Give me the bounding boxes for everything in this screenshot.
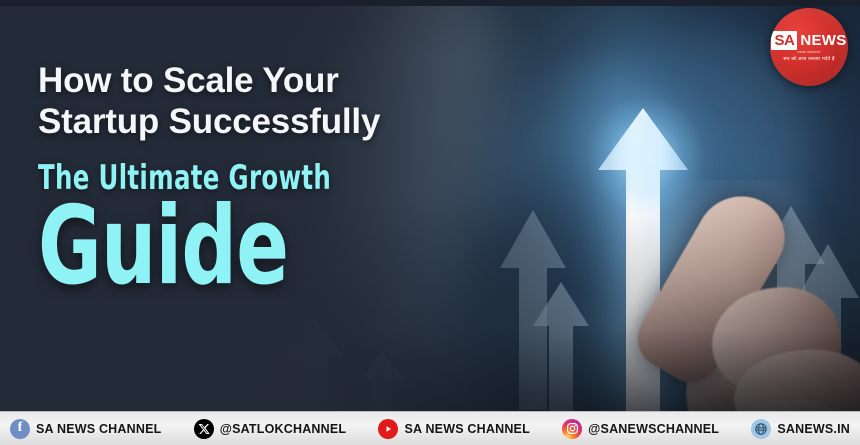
banner-image: How to Scale Your Startup Successfully T…	[0, 0, 860, 445]
footer-item-youtube[interactable]: SA NEWS CHANNEL	[378, 419, 529, 439]
footer-item-facebook[interactable]: f SA NEWS CHANNEL	[10, 419, 161, 439]
social-footer-bar: f SA NEWS CHANNEL @SATLOKCHANNEL SA NEWS…	[0, 411, 860, 445]
footer-label-facebook: SA NEWS CHANNEL	[36, 422, 161, 436]
hero-word: Guide	[38, 197, 414, 296]
footer-label-x: @SATLOKCHANNEL	[220, 422, 347, 436]
headline-line-1: How to Scale Your	[38, 60, 508, 101]
youtube-icon[interactable]	[378, 419, 398, 439]
instagram-icon[interactable]	[562, 419, 582, 439]
sa-news-logo[interactable]: SA NEWS news channel सच को आज तलवार मर्द…	[770, 8, 848, 86]
headline-block: How to Scale Your Startup Successfully T…	[38, 60, 508, 296]
logo-tagline-hindi: सच को आज तलवार मर्दते हैं	[783, 58, 834, 63]
headline: How to Scale Your Startup Successfully	[38, 60, 508, 143]
headline-line-2: Startup Successfully	[38, 101, 508, 142]
top-edge-strip	[0, 0, 860, 6]
footer-item-website[interactable]: SANEWS.IN	[751, 419, 850, 439]
footer-label-youtube: SA NEWS CHANNEL	[404, 422, 529, 436]
x-twitter-icon[interactable]	[194, 419, 214, 439]
facebook-icon[interactable]: f	[10, 419, 30, 439]
footer-label-website: SANEWS.IN	[777, 422, 850, 436]
logo-tagline-small: news channel	[797, 51, 820, 54]
logo-news-text: NEWS	[800, 33, 846, 48]
footer-label-instagram: @SANEWSCHANNEL	[588, 422, 719, 436]
footer-item-x[interactable]: @SATLOKCHANNEL	[194, 419, 347, 439]
logo-wordmark: SA NEWS	[771, 31, 846, 50]
footer-item-instagram[interactable]: @SANEWSCHANNEL	[562, 419, 719, 439]
logo-sa-text: SA	[771, 31, 797, 50]
globe-icon[interactable]	[751, 419, 771, 439]
